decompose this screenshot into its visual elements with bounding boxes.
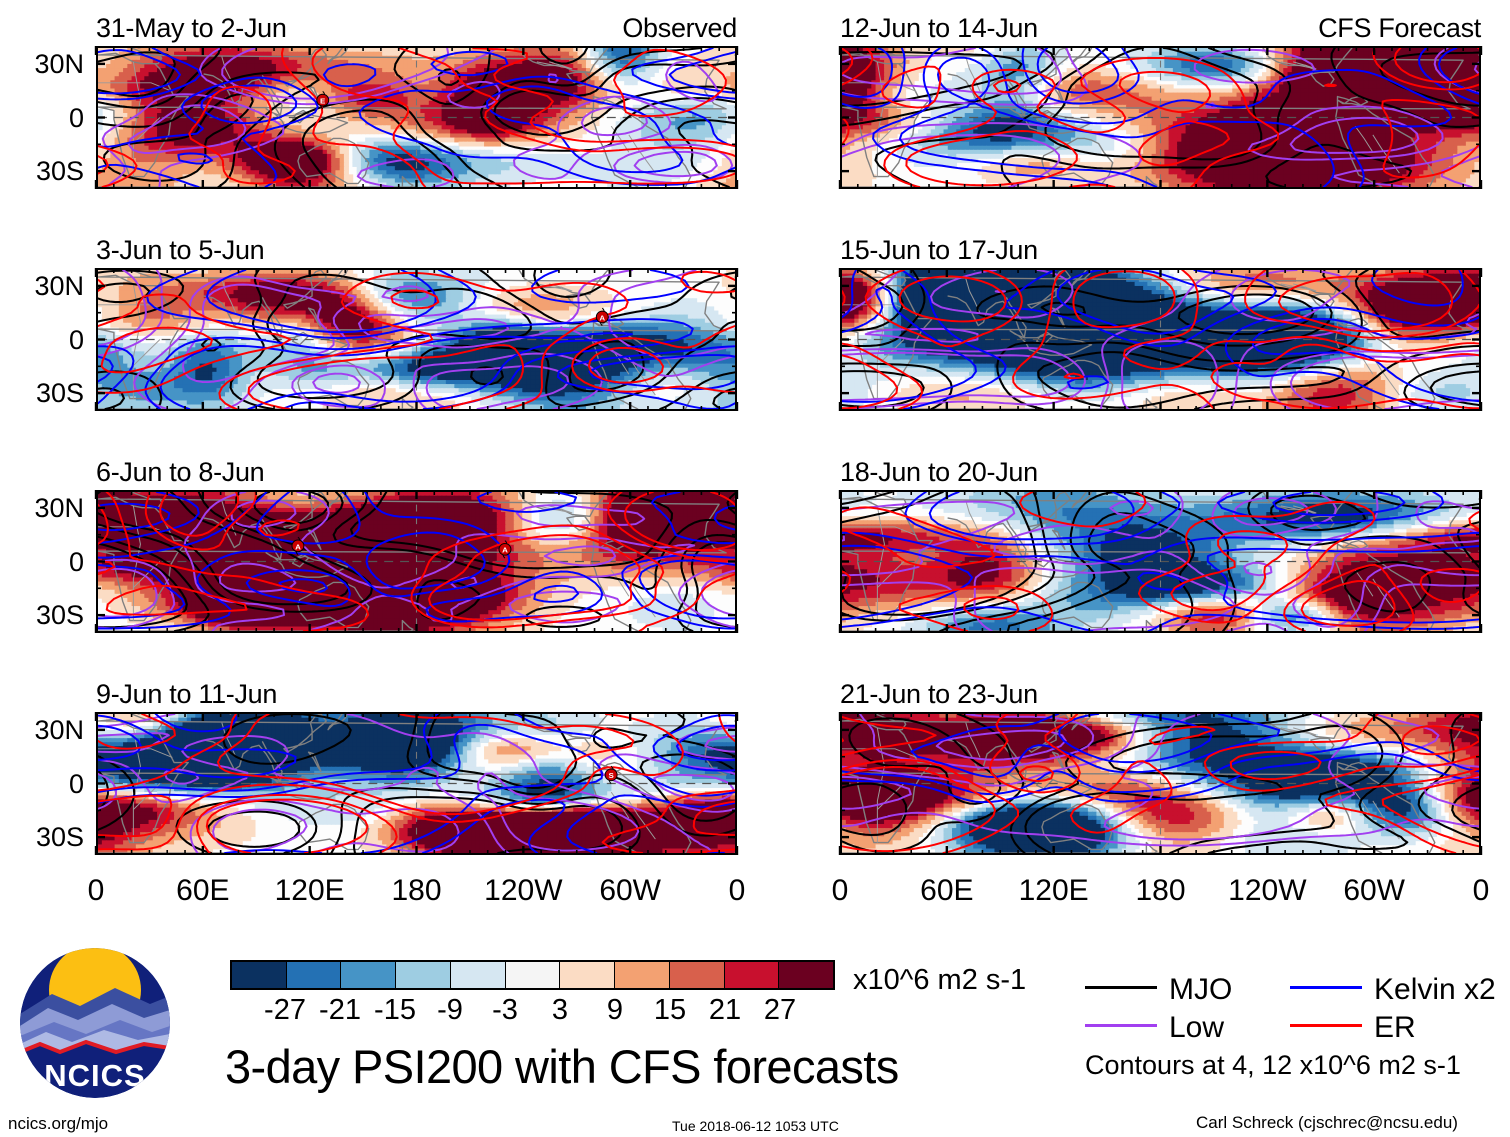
colorbar-swatch-4	[451, 962, 506, 988]
contour-interval-note: Contours at 4, 12 x10^6 m2 s-1	[1085, 1052, 1461, 1079]
legend-swatch-er	[1290, 1024, 1362, 1027]
panel-title-7: 21-Jun to 23-Jun	[840, 681, 1038, 708]
footer-timestamp: Tue 2018-06-12 1053 UTC	[672, 1118, 839, 1135]
colorbar-tick-label: 3	[552, 996, 568, 1025]
map-panel-3[interactable]: S	[96, 712, 737, 855]
x-axis-left: 060E120E180120W60W0	[96, 876, 737, 910]
panel-title-1: 3-Jun to 5-Jun	[96, 237, 264, 264]
y-tick-label: 30N	[34, 51, 84, 78]
x-tick-label: 120E	[275, 876, 345, 906]
x-tick-label: 120W	[1228, 876, 1306, 906]
column-header-left: Observed	[622, 15, 737, 42]
legend-label-kelvin-x2: Kelvin x2	[1374, 975, 1496, 1005]
panel-title-4: 12-Jun to 14-Jun	[840, 15, 1038, 42]
x-tick-label: 120W	[484, 876, 562, 906]
panel-title-0: 31-May to 2-Jun	[96, 15, 287, 42]
map-panel-6[interactable]	[840, 490, 1481, 633]
y-tick-label: 30N	[34, 273, 84, 300]
x-tick-label: 0	[729, 876, 746, 906]
colorbar-tick-label: 21	[709, 996, 741, 1025]
x-tick-label: 180	[391, 876, 441, 906]
colorbar-tick-label: 15	[654, 996, 686, 1025]
colorbar-swatch-6	[560, 962, 615, 988]
colorbar-swatch-8	[670, 962, 725, 988]
y-tick-label: 0	[69, 327, 84, 354]
x-tick-label: 60W	[599, 876, 661, 906]
map-panel-5[interactable]	[840, 268, 1481, 411]
colorbar-tick-label: -15	[374, 996, 416, 1025]
map-panel-2[interactable]: AA	[96, 490, 737, 633]
colorbar-swatch-7	[615, 962, 670, 988]
colorbar-swatch-1	[287, 962, 342, 988]
colorbar-units-label: x10^6 m2 s-1	[853, 966, 1026, 995]
map-panel-1[interactable]: A	[96, 268, 737, 411]
panel-title-6: 18-Jun to 20-Jun	[840, 459, 1038, 486]
y-tick-label: 30S	[36, 824, 84, 851]
panel-title-2: 6-Jun to 8-Jun	[96, 459, 264, 486]
panel-title-5: 15-Jun to 17-Jun	[840, 237, 1038, 264]
x-tick-label: 0	[1473, 876, 1490, 906]
ncics-logo[interactable]: NCICS	[20, 948, 170, 1098]
y-tick-label: 30S	[36, 602, 84, 629]
x-tick-label: 60E	[176, 876, 229, 906]
colorbar-swatch-0	[232, 962, 287, 988]
column-header-right: CFS Forecast	[1318, 15, 1481, 42]
y-tick-label: 30S	[36, 380, 84, 407]
y-tick-label: 30S	[36, 158, 84, 185]
legend-swatch-low	[1085, 1024, 1157, 1027]
y-tick-label: 30N	[34, 717, 84, 744]
footer-author[interactable]: Carl Schreck (cjschrec@ncsu.edu)	[1196, 1114, 1458, 1131]
colorbar-swatch-3	[396, 962, 451, 988]
colorbar-tick-labels: -27-21-15-9-339152127	[230, 996, 835, 1028]
colorbar-swatch-2	[341, 962, 396, 988]
colorbar-tick-label: 9	[607, 996, 623, 1025]
colorbar-swatch-5	[506, 962, 561, 988]
map-panel-4[interactable]	[840, 46, 1481, 189]
x-tick-label: 60W	[1343, 876, 1405, 906]
colorbar-tick-label: -27	[264, 996, 306, 1025]
colorbar-tick-label: -21	[319, 996, 361, 1025]
colorbar-tick-label: -9	[437, 996, 463, 1025]
legend-label-er: ER	[1374, 1013, 1416, 1043]
x-tick-label: 120E	[1019, 876, 1089, 906]
map-panel-0[interactable]: E	[96, 46, 737, 189]
x-tick-label: 180	[1135, 876, 1185, 906]
svg-text:E: E	[320, 97, 325, 106]
footer-website[interactable]: ncics.org/mjo	[8, 1115, 108, 1132]
legend-swatch-kelvin-x2	[1290, 986, 1362, 989]
panel-title-3: 9-Jun to 11-Jun	[96, 681, 277, 708]
x-tick-label: 0	[832, 876, 849, 906]
y-tick-label: 0	[69, 105, 84, 132]
ncics-logo-graphic: NCICS	[20, 948, 170, 1098]
x-tick-label: 0	[88, 876, 105, 906]
colorbar-swatch-9	[725, 962, 780, 988]
x-tick-label: 60E	[920, 876, 973, 906]
legend-label-low: Low	[1169, 1013, 1224, 1043]
y-tick-label: 0	[69, 771, 84, 798]
legend-swatch-mjo	[1085, 986, 1157, 989]
colorbar-tick-label: -3	[492, 996, 518, 1025]
colorbar-swatch-10	[779, 962, 833, 988]
y-tick-label: 30N	[34, 495, 84, 522]
legend-label-mjo: MJO	[1169, 975, 1232, 1005]
x-axis-right: 060E120E180120W60W0	[840, 876, 1481, 910]
colorbar-tick-label: 27	[764, 996, 796, 1025]
main-title: 3-day PSI200 with CFS forecasts	[225, 1043, 899, 1090]
y-tick-label: 0	[69, 549, 84, 576]
colorbar	[230, 960, 835, 990]
map-panel-7[interactable]	[840, 712, 1481, 855]
